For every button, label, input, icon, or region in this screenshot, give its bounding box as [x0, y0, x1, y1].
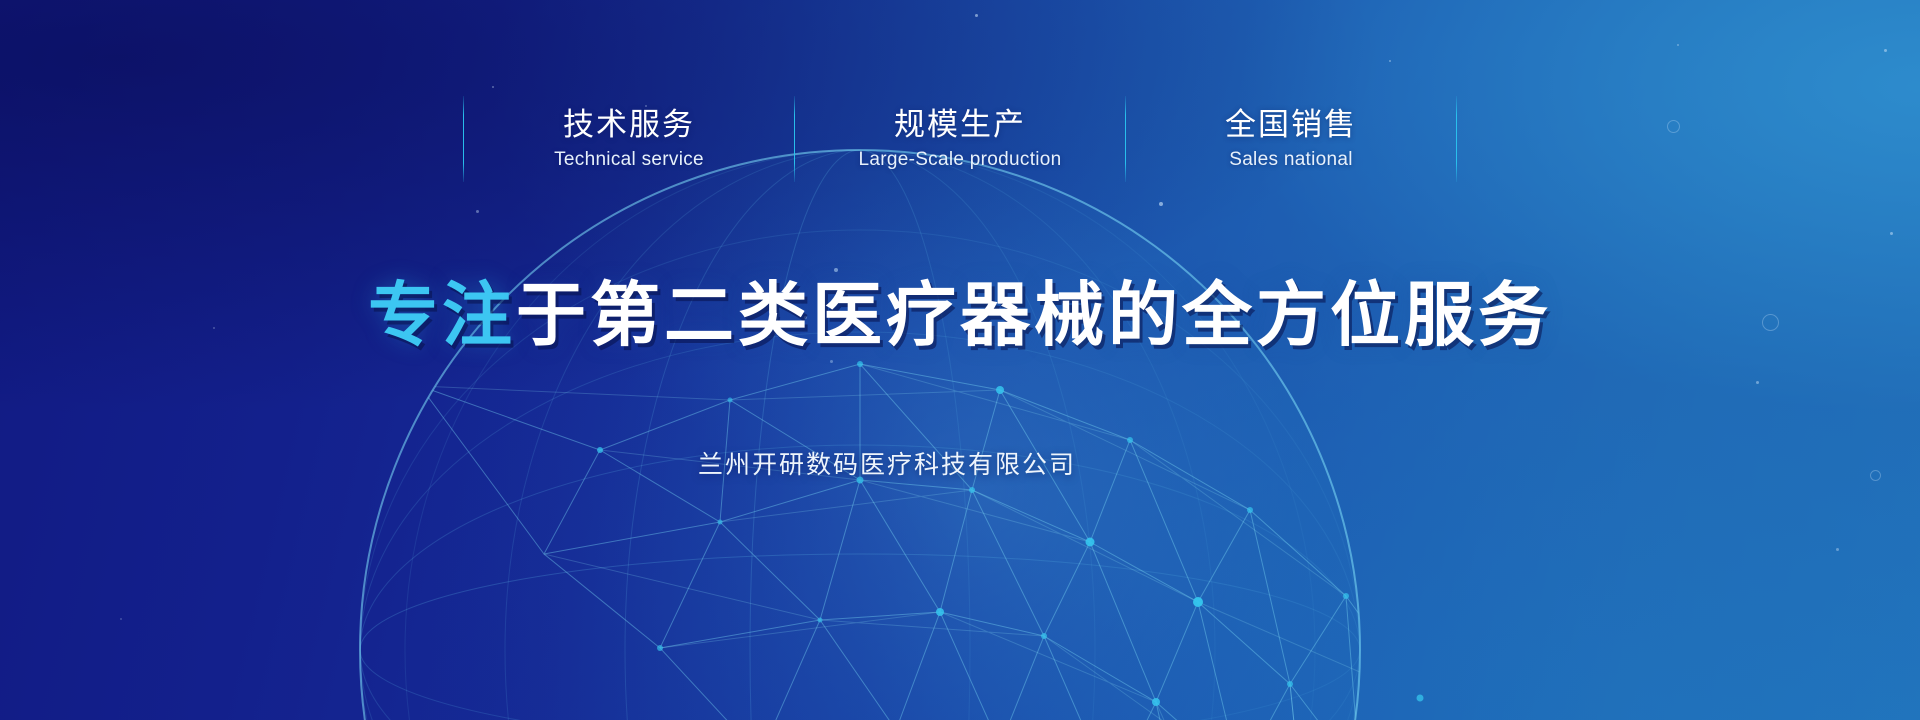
- feature-divider: [1456, 96, 1457, 182]
- particle-dot: [1890, 232, 1893, 235]
- particle-dot: [1884, 49, 1887, 52]
- feature-title-cn: 技术服务: [563, 107, 695, 143]
- spacer: [1126, 84, 1189, 194]
- network-globe-graphic: [300, 150, 1620, 720]
- company-name-row: 兰州开研数码医疗科技有限公司: [0, 448, 1920, 482]
- spacer: [464, 84, 527, 194]
- particle-dot: [975, 14, 978, 17]
- particle-dot: [1756, 381, 1759, 384]
- feature-title-cn: 全国销售: [1225, 107, 1357, 143]
- spacer: [1393, 84, 1456, 194]
- hero-banner: 技术服务 Technical service 规模生产 Large-Scale …: [0, 0, 1920, 720]
- feature-title-cn: 规模生产: [894, 107, 1026, 143]
- particle-dot: [120, 618, 122, 620]
- spacer: [1062, 84, 1125, 194]
- particle-dot: [1159, 202, 1163, 206]
- feature-item-large-scale-production[interactable]: 规模生产 Large-Scale production: [858, 84, 1062, 194]
- headline-highlight: 专注: [368, 276, 516, 354]
- hero-headline: 专注于第二类医疗器械的全方位服务: [0, 272, 1920, 358]
- particle-dot: [476, 210, 479, 213]
- spacer: [795, 84, 858, 194]
- feature-title-en: Large-Scale production: [858, 149, 1061, 171]
- company-name: 兰州开研数码医疗科技有限公司: [698, 448, 1076, 482]
- particle-dot: [1836, 548, 1839, 551]
- feature-title-en: Sales national: [1229, 149, 1353, 171]
- feature-item-sales-national[interactable]: 全国销售 Sales national: [1189, 84, 1393, 194]
- feature-item-technical-service[interactable]: 技术服务 Technical service: [527, 84, 731, 194]
- spacer: [731, 84, 794, 194]
- particle-dot: [830, 360, 833, 363]
- feature-title-en: Technical service: [554, 149, 704, 171]
- feature-strip: 技术服务 Technical service 规模生产 Large-Scale …: [0, 84, 1920, 194]
- particle-dot: [1677, 44, 1679, 46]
- headline-rest: 于第二类医疗器械的全方位服务: [516, 276, 1552, 354]
- particle-dot: [1389, 60, 1391, 62]
